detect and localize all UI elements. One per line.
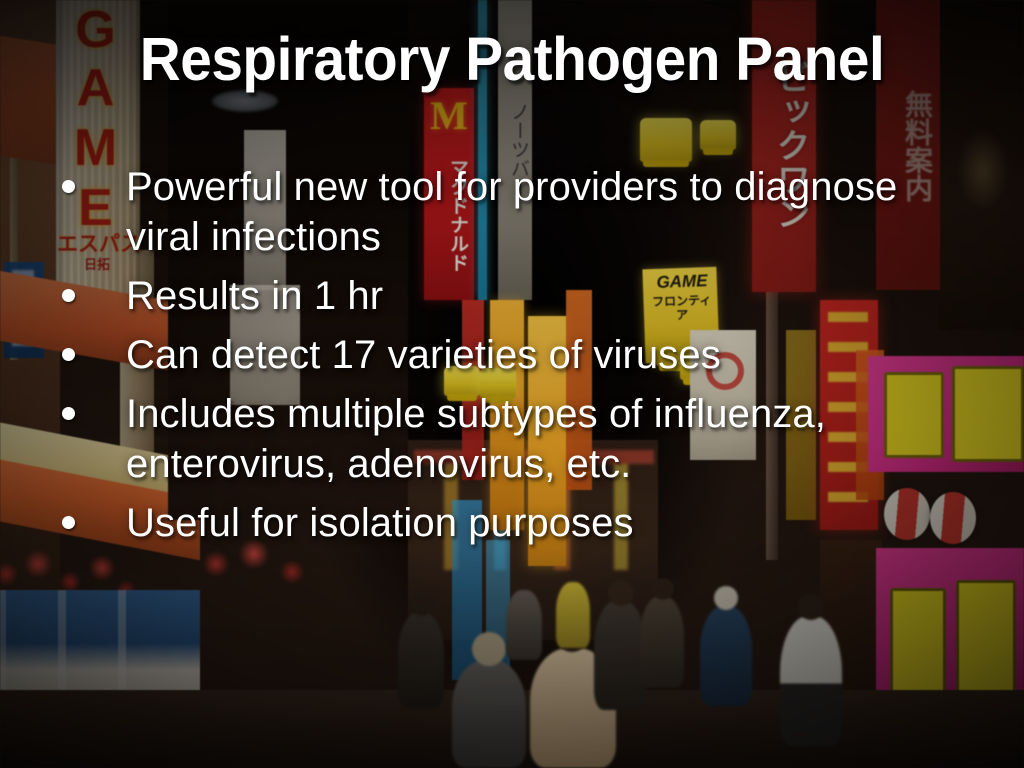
list-item-label: Results in 1 hr <box>126 271 383 321</box>
list-item: Can detect 17 varieties of viruses <box>56 330 956 380</box>
pedestrian <box>452 660 526 768</box>
pink-sign-yellow-kanji-2 <box>952 366 1024 462</box>
pedestrian <box>594 600 646 710</box>
list-item: Useful for isolation purposes <box>56 498 956 548</box>
pedestrian-head <box>410 592 434 616</box>
pedestrian <box>780 616 842 746</box>
pedestrian <box>506 590 542 660</box>
bullet-list: Powerful new tool for providers to diagn… <box>56 162 956 557</box>
list-item-label: Useful for isolation purposes <box>126 498 634 548</box>
list-item-label: Can detect 17 varieties of viruses <box>126 330 721 380</box>
pedestrian-head <box>608 580 634 606</box>
pedestrian-head <box>652 578 674 600</box>
round-bullet-icon <box>62 180 75 193</box>
presentation-slide: G A M E エスパス 日拓 M マクドナルド ノーツバー <box>0 0 1024 768</box>
list-item: Includes multiple subtypes of influenza,… <box>56 389 956 489</box>
pedestrian <box>556 582 590 648</box>
yellow-lantern-3 <box>640 118 692 162</box>
list-item-label: Includes multiple subtypes of influenza,… <box>126 389 916 489</box>
pedestrian-head <box>472 632 506 666</box>
round-bullet-icon <box>62 516 75 529</box>
pedestrian <box>700 606 752 706</box>
pedestrian-head <box>714 586 738 610</box>
pedestrian-head <box>798 594 824 620</box>
list-item: Powerful new tool for providers to diagn… <box>56 162 956 262</box>
round-bullet-icon <box>62 289 75 302</box>
list-item: Results in 1 hr <box>56 271 956 321</box>
mcdonalds-logo-letter: M <box>428 96 470 136</box>
pedestrian <box>398 612 444 708</box>
page-title: Respiratory Pathogen Panel <box>36 22 988 96</box>
list-item-label: Powerful new tool for providers to diagn… <box>126 162 916 262</box>
round-bullet-icon <box>62 407 75 420</box>
pedestrian <box>640 596 684 688</box>
right-warm-glow <box>958 130 1008 210</box>
yellow-lantern-6 <box>700 120 736 150</box>
round-bullet-icon <box>62 348 75 361</box>
